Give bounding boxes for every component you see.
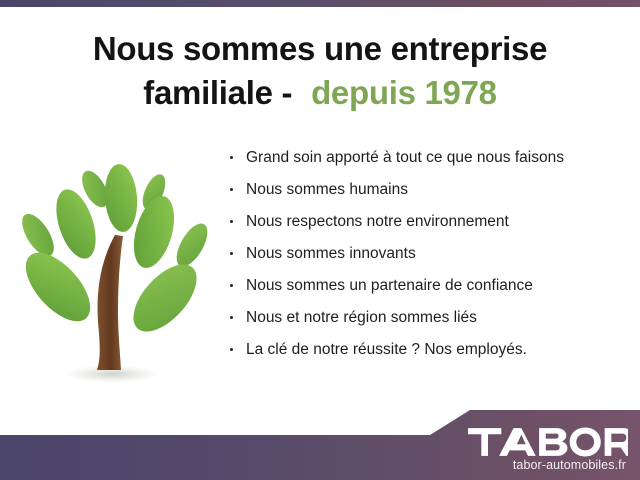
bullet-dot-icon bbox=[230, 316, 233, 319]
benefits-list: Grand soin apporté à tout ce que nous fa… bbox=[228, 147, 628, 361]
tabor-wordmark bbox=[448, 427, 628, 457]
list-item-label: Nous sommes innovants bbox=[246, 245, 416, 262]
bullet-dot-icon bbox=[230, 348, 233, 351]
list-item: Grand soin apporté à tout ce que nous fa… bbox=[228, 147, 628, 169]
headline-line-2: familiale - depuis 1978 bbox=[0, 71, 640, 115]
brand-logo: tabor-automobiles.fr bbox=[448, 427, 628, 472]
list-item-label: Nous et notre région sommes liés bbox=[246, 309, 477, 326]
brand-tagline: tabor-automobiles.fr bbox=[448, 458, 628, 472]
list-item-label: Nous sommes un partenaire de confiance bbox=[246, 277, 533, 294]
bullet-dot-icon bbox=[230, 220, 233, 223]
bullet-dot-icon bbox=[230, 252, 233, 255]
tree-trunk bbox=[97, 235, 123, 370]
bullet-dot-icon bbox=[230, 188, 233, 191]
list-item: Nous sommes innovants bbox=[228, 243, 628, 265]
list-item-label: Grand soin apporté à tout ce que nous fa… bbox=[246, 149, 564, 166]
list-item-label: Nous sommes humains bbox=[246, 181, 408, 198]
bullet-dot-icon bbox=[230, 284, 233, 287]
slide-canvas: Nous sommes une entreprise familiale - d… bbox=[0, 0, 640, 480]
list-item: Nous respectons notre environnement bbox=[228, 211, 628, 233]
headline-line-1: Nous sommes une entreprise bbox=[0, 27, 640, 71]
top-accent-strip bbox=[0, 0, 640, 7]
bullet-dot-icon bbox=[230, 156, 233, 159]
list-item-label: Nous respectons notre environnement bbox=[246, 213, 509, 230]
headline-line-2-main: familiale - bbox=[143, 74, 301, 111]
list-item-label: La clé de notre réussite ? Nos employés. bbox=[246, 341, 527, 358]
page-title: Nous sommes une entreprise familiale - d… bbox=[0, 27, 640, 115]
list-item: Nous et notre région sommes liés bbox=[228, 307, 628, 329]
green-tree-illustration bbox=[8, 152, 222, 396]
list-item: La clé de notre réussite ? Nos employés. bbox=[228, 339, 628, 361]
headline-accent-year: depuis 1978 bbox=[311, 74, 497, 111]
list-item: Nous sommes humains bbox=[228, 179, 628, 201]
list-item: Nous sommes un partenaire de confiance bbox=[228, 275, 628, 297]
